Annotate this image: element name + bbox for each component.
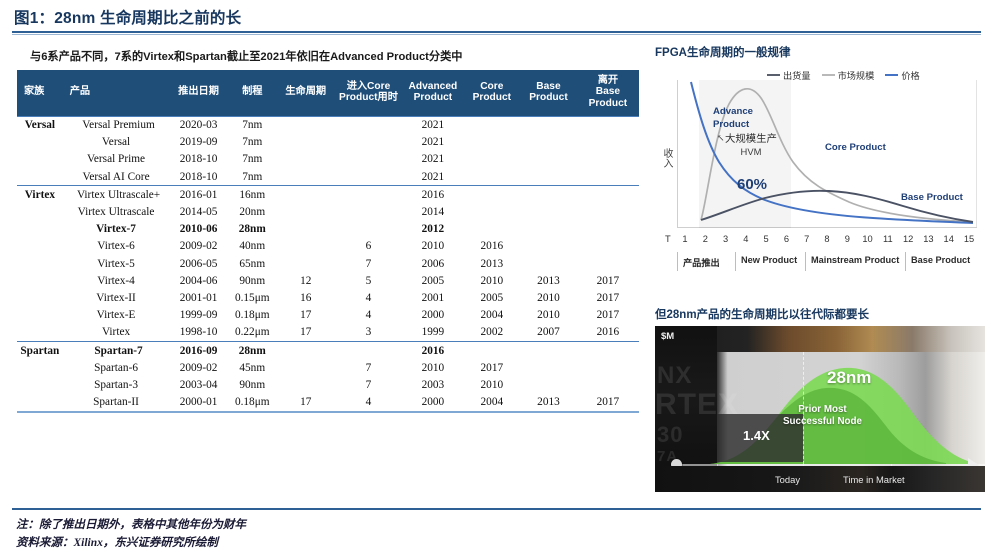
cell-leave-base: 2017 bbox=[577, 307, 639, 324]
phase-label-new: New Product bbox=[741, 255, 797, 265]
cell-leave-base: 2017 bbox=[577, 394, 639, 412]
cell-product: Spartan-II bbox=[63, 394, 170, 412]
cell-lifecycle bbox=[277, 168, 335, 186]
x-tick-3: 3 bbox=[723, 234, 728, 244]
table-row: Virtex-II2001-010.15μm164200120052010201… bbox=[17, 289, 639, 306]
cell-advanced: 2010 bbox=[402, 238, 463, 255]
x-axis-origin-label: T bbox=[665, 234, 671, 244]
cell-node: 20nm bbox=[228, 203, 277, 220]
table-caption: 与6系产品不同，7系的Virtex和Spartan截止至2021年依旧在Adva… bbox=[30, 48, 462, 64]
table-row: Spartan-II2000-010.18μm17420002004201320… bbox=[17, 394, 639, 412]
table-row: Virtex-E1999-090.18μm1742000200420102017 bbox=[17, 307, 639, 324]
phase-label-base: Base Product bbox=[911, 255, 970, 265]
table-row: Spartan-62009-0245nm720102017 bbox=[17, 359, 639, 376]
cell-leave-base: 2017 bbox=[577, 289, 639, 306]
cell-launch: 2003-04 bbox=[169, 376, 227, 393]
annotation-base-product: Base Product bbox=[901, 192, 963, 203]
cell-advanced: 2021 bbox=[402, 116, 463, 134]
cell-advanced: 2003 bbox=[402, 376, 463, 393]
cell-base bbox=[520, 376, 577, 393]
cell-core: 2017 bbox=[463, 359, 520, 376]
cell-node: 0.22μm bbox=[228, 324, 277, 342]
cell-advanced: 2014 bbox=[402, 203, 463, 220]
cell-base bbox=[520, 151, 577, 168]
x-tick-2: 2 bbox=[703, 234, 708, 244]
cell-enter-core: 4 bbox=[335, 307, 403, 324]
annotation-advance-product: Advance Product bbox=[713, 106, 753, 132]
figure-source: 资料来源：Xilinx，东兴证券研究所绘制 bbox=[16, 534, 218, 550]
title-divider bbox=[12, 31, 981, 33]
ghost-text-3: 30 bbox=[657, 422, 683, 448]
multiplier-label: 1.4X bbox=[743, 428, 770, 443]
cell-core bbox=[463, 186, 520, 204]
page-title: 图1：28nm 生命周期比之前的长 bbox=[14, 6, 241, 28]
cell-core bbox=[463, 203, 520, 220]
cell-base bbox=[520, 221, 577, 238]
cell-base: 2013 bbox=[520, 394, 577, 412]
y-axis-label: 收入 bbox=[657, 148, 671, 175]
cell-base: 2010 bbox=[520, 307, 577, 324]
cell-lifecycle bbox=[277, 238, 335, 255]
x-axis-ticks: T 123456789101112131415 bbox=[677, 234, 977, 250]
cell-core: 2010 bbox=[463, 376, 520, 393]
x-tick-15: 15 bbox=[964, 234, 974, 244]
cell-product: Versal Premium bbox=[63, 116, 170, 134]
table-row: Virtex1998-100.22μm1731999200220072016 bbox=[17, 324, 639, 342]
cell-advanced: 2021 bbox=[402, 168, 463, 186]
cell-product: Versal AI Core bbox=[63, 168, 170, 186]
lifecycle-chart-title: FPGA生命周期的一般规律 bbox=[655, 44, 790, 60]
cell-enter-core bbox=[335, 203, 403, 220]
cell-enter-core: 5 bbox=[335, 272, 403, 289]
cell-base bbox=[520, 116, 577, 134]
cell-core: 2004 bbox=[463, 394, 520, 412]
cell-core bbox=[463, 116, 520, 134]
cell-lifecycle bbox=[277, 255, 335, 272]
cell-product: Spartan-7 bbox=[63, 341, 170, 359]
cell-advanced: 2000 bbox=[402, 307, 463, 324]
annotation-hvm-en: HVM bbox=[725, 146, 777, 157]
cell-node: 7nm bbox=[228, 151, 277, 168]
x-tick-8: 8 bbox=[824, 234, 829, 244]
cell-advanced: 1999 bbox=[402, 324, 463, 342]
cell-lifecycle bbox=[277, 186, 335, 204]
cell-family bbox=[17, 307, 63, 324]
cell-leave-base bbox=[577, 221, 639, 238]
cell-core: 2013 bbox=[463, 255, 520, 272]
cell-enter-core bbox=[335, 186, 403, 204]
cell-lifecycle: 16 bbox=[277, 289, 335, 306]
cell-launch: 2018-10 bbox=[169, 151, 227, 168]
cell-family bbox=[17, 324, 63, 342]
cell-product: Virtex-6 bbox=[63, 238, 170, 255]
cell-family bbox=[17, 203, 63, 220]
phase-label-mainstream: Mainstream Product bbox=[811, 255, 899, 265]
x-tick-13: 13 bbox=[923, 234, 933, 244]
cell-lifecycle bbox=[277, 151, 335, 168]
legend-swatch-shipments bbox=[767, 74, 780, 76]
cell-core: 2002 bbox=[463, 324, 520, 342]
col-header-node: 制程 bbox=[228, 70, 277, 116]
node-label-28nm: 28nm bbox=[827, 368, 871, 388]
cell-family bbox=[17, 359, 63, 376]
cell-product: Versal Prime bbox=[63, 151, 170, 168]
photo-foot-strip bbox=[655, 466, 985, 492]
legend-swatch-price bbox=[885, 74, 898, 76]
col-header-core: CoreProduct bbox=[463, 70, 520, 116]
cell-leave-base bbox=[577, 168, 639, 186]
cell-base bbox=[520, 341, 577, 359]
cell-launch: 2006-05 bbox=[169, 255, 227, 272]
cell-launch: 1999-09 bbox=[169, 307, 227, 324]
cell-base bbox=[520, 238, 577, 255]
left-table-panel: 与6系产品不同，7系的Virtex和Spartan截止至2021年依旧在Adva… bbox=[0, 38, 648, 498]
cell-launch: 2018-10 bbox=[169, 168, 227, 186]
prior-node-label: Prior Most Successful Node bbox=[783, 404, 862, 428]
cell-advanced: 2016 bbox=[402, 186, 463, 204]
table-header-row: 家族 产品 推出日期 制程 生命周期 进入CoreProduct用时 Advan… bbox=[17, 70, 639, 116]
table-row: Versal2019-097nm2021 bbox=[17, 134, 639, 151]
phase-band: 产品推出 New Product Mainstream Product Base… bbox=[677, 252, 977, 274]
cell-product: Virtex-4 bbox=[63, 272, 170, 289]
cell-enter-core bbox=[335, 168, 403, 186]
annotation-core-product: Core Product bbox=[825, 142, 886, 153]
cell-node: 7nm bbox=[228, 168, 277, 186]
cell-leave-base bbox=[577, 359, 639, 376]
table-row: Virtex-42004-0690nm1252005201020132017 bbox=[17, 272, 639, 289]
cell-base bbox=[520, 359, 577, 376]
footer-divider bbox=[12, 508, 981, 510]
cell-advanced: 2006 bbox=[402, 255, 463, 272]
cell-family bbox=[17, 238, 63, 255]
cell-family bbox=[17, 151, 63, 168]
cell-node: 65nm bbox=[228, 255, 277, 272]
cell-enter-core: 7 bbox=[335, 376, 403, 393]
cell-advanced: 2001 bbox=[402, 289, 463, 306]
cell-advanced: 2016 bbox=[402, 341, 463, 359]
table-body: VersalVersal Premium2020-037nm2021Versal… bbox=[17, 116, 639, 412]
col-header-family: 家族 bbox=[17, 70, 63, 116]
cell-node: 7nm bbox=[228, 134, 277, 151]
cell-leave-base bbox=[577, 116, 639, 134]
cell-advanced: 2010 bbox=[402, 359, 463, 376]
photo-chart-title: 但28nm产品的生命周期比以往代际都要长 bbox=[655, 306, 869, 322]
plot-area: Advance Product ↖ 大规模生产 HVM 60% Core Pro… bbox=[677, 80, 977, 228]
col-header-enter-core: 进入CoreProduct用时 bbox=[335, 70, 403, 116]
cell-base: 2010 bbox=[520, 289, 577, 306]
cell-family bbox=[17, 221, 63, 238]
cell-core bbox=[463, 221, 520, 238]
cell-enter-core: 7 bbox=[335, 255, 403, 272]
y-axis-label-text: 收入 bbox=[657, 148, 676, 168]
today-marker-line bbox=[803, 352, 804, 464]
cell-lifecycle bbox=[277, 221, 335, 238]
product-lifecycle-table: 家族 产品 推出日期 制程 生命周期 进入CoreProduct用时 Advan… bbox=[17, 70, 639, 413]
cell-launch: 2016-01 bbox=[169, 186, 227, 204]
cell-leave-base bbox=[577, 151, 639, 168]
lifecycle-curves bbox=[677, 80, 977, 228]
x-tick-7: 7 bbox=[804, 234, 809, 244]
cell-family bbox=[17, 255, 63, 272]
table-row: Virtex-52006-0565nm720062013 bbox=[17, 255, 639, 272]
cell-product: Virtex-7 bbox=[63, 221, 170, 238]
table-row: Virtex-72010-0628nm2012 bbox=[17, 221, 639, 238]
cell-enter-core: 4 bbox=[335, 289, 403, 306]
cell-advanced: 2012 bbox=[402, 221, 463, 238]
cell-leave-base: 2016 bbox=[577, 324, 639, 342]
table-header: 家族 产品 推出日期 制程 生命周期 进入CoreProduct用时 Advan… bbox=[17, 70, 639, 116]
cell-launch: 2009-02 bbox=[169, 359, 227, 376]
cell-launch: 2020-03 bbox=[169, 116, 227, 134]
cell-product: Virtex Ultrascale bbox=[63, 203, 170, 220]
cell-leave-base bbox=[577, 203, 639, 220]
cell-node: 7nm bbox=[228, 116, 277, 134]
cell-product: Virtex-5 bbox=[63, 255, 170, 272]
cell-node: 0.18μm bbox=[228, 307, 277, 324]
col-header-leave-base: 离开Base Product bbox=[577, 70, 639, 116]
cell-launch: 2001-01 bbox=[169, 289, 227, 306]
cell-enter-core bbox=[335, 134, 403, 151]
cell-core bbox=[463, 134, 520, 151]
cell-enter-core: 4 bbox=[335, 394, 403, 412]
col-header-base: BaseProduct bbox=[520, 70, 577, 116]
cell-lifecycle bbox=[277, 376, 335, 393]
cell-lifecycle bbox=[277, 116, 335, 134]
annotation-hvm-cn: 大规模生产 bbox=[725, 134, 777, 146]
cell-enter-core bbox=[335, 151, 403, 168]
cell-product: Virtex-II bbox=[63, 289, 170, 306]
cell-node: 90nm bbox=[228, 272, 277, 289]
x-tick-9: 9 bbox=[845, 234, 850, 244]
cell-enter-core: 6 bbox=[335, 238, 403, 255]
cell-leave-base bbox=[577, 134, 639, 151]
cell-family bbox=[17, 394, 63, 412]
cell-core: 2010 bbox=[463, 272, 520, 289]
cell-launch: 2009-02 bbox=[169, 238, 227, 255]
cell-product: Versal bbox=[63, 134, 170, 151]
annotation-hvm: 大规模生产 HVM bbox=[725, 134, 777, 158]
hvm-arrow-icon: ↖ bbox=[717, 133, 725, 144]
cell-core bbox=[463, 341, 520, 359]
cell-advanced: 2005 bbox=[402, 272, 463, 289]
table-row: SpartanSpartan-72016-0928nm2016 bbox=[17, 341, 639, 359]
x-tick-5: 5 bbox=[764, 234, 769, 244]
cell-family bbox=[17, 272, 63, 289]
table-row: Spartan-32003-0490nm720032010 bbox=[17, 376, 639, 393]
cell-core: 2005 bbox=[463, 289, 520, 306]
cell-advanced: 2021 bbox=[402, 151, 463, 168]
cell-leave-base bbox=[577, 376, 639, 393]
figure-page: 图1：28nm 生命周期比之前的长 与6系产品不同，7系的Virtex和Spar… bbox=[0, 0, 993, 557]
cell-node: 0.18μm bbox=[228, 394, 277, 412]
cell-core bbox=[463, 168, 520, 186]
cell-core bbox=[463, 151, 520, 168]
annotation-percent: 60% bbox=[737, 176, 767, 193]
cell-node: 28nm bbox=[228, 221, 277, 238]
table-row: Virtex Ultrascale2014-0520nm2014 bbox=[17, 203, 639, 220]
cell-node: 45nm bbox=[228, 359, 277, 376]
cell-core: 2004 bbox=[463, 307, 520, 324]
cell-family bbox=[17, 134, 63, 151]
cell-launch: 2004-06 bbox=[169, 272, 227, 289]
cell-enter-core bbox=[335, 341, 403, 359]
col-header-lifecycle: 生命周期 bbox=[277, 70, 335, 116]
x-tick-1: 1 bbox=[682, 234, 687, 244]
photo-chart: NX RTEX 30 7A 5A $M 1.4X 28nm Prior Most… bbox=[655, 326, 985, 492]
cell-base bbox=[520, 255, 577, 272]
ghost-text-1: NX bbox=[657, 362, 692, 390]
cell-family: Virtex bbox=[17, 186, 63, 204]
cell-launch: 2019-09 bbox=[169, 134, 227, 151]
cell-lifecycle bbox=[277, 341, 335, 359]
cell-node: 16nm bbox=[228, 186, 277, 204]
cell-base: 2007 bbox=[520, 324, 577, 342]
table-row: VersalVersal Premium2020-037nm2021 bbox=[17, 116, 639, 134]
col-header-product: 产品 bbox=[63, 70, 170, 116]
table-row: Versal Prime2018-107nm2021 bbox=[17, 151, 639, 168]
table-row: VirtexVirtex Ultrascale+2016-0116nm2016 bbox=[17, 186, 639, 204]
title-divider-light bbox=[12, 34, 981, 35]
cell-core: 2016 bbox=[463, 238, 520, 255]
cell-family bbox=[17, 168, 63, 186]
phase-label-launch: 产品推出 bbox=[683, 255, 720, 269]
legend-swatch-market-size bbox=[822, 74, 835, 76]
photo-today-label: Today bbox=[775, 474, 800, 485]
cell-product: Spartan-3 bbox=[63, 376, 170, 393]
cell-base bbox=[520, 203, 577, 220]
x-tick-6: 6 bbox=[784, 234, 789, 244]
cell-leave-base bbox=[577, 238, 639, 255]
x-tick-10: 10 bbox=[862, 234, 872, 244]
cell-family bbox=[17, 376, 63, 393]
photo-unit-label: $M bbox=[661, 331, 674, 342]
cell-lifecycle: 17 bbox=[277, 324, 335, 342]
cell-lifecycle: 17 bbox=[277, 307, 335, 324]
table-row: Versal AI Core2018-107nm2021 bbox=[17, 168, 639, 186]
x-tick-4: 4 bbox=[743, 234, 748, 244]
cell-base bbox=[520, 168, 577, 186]
cell-base bbox=[520, 186, 577, 204]
cell-family: Versal bbox=[17, 116, 63, 134]
x-tick-11: 11 bbox=[883, 234, 893, 244]
cell-node: 40nm bbox=[228, 238, 277, 255]
cell-leave-base: 2017 bbox=[577, 272, 639, 289]
cell-product: Spartan-6 bbox=[63, 359, 170, 376]
cell-product: Virtex-E bbox=[63, 307, 170, 324]
cell-base bbox=[520, 134, 577, 151]
cell-enter-core: 3 bbox=[335, 324, 403, 342]
cell-launch: 2010-06 bbox=[169, 221, 227, 238]
cell-leave-base bbox=[577, 186, 639, 204]
cell-lifecycle bbox=[277, 203, 335, 220]
cell-launch: 1998-10 bbox=[169, 324, 227, 342]
photo-xaxis-label: Time in Market bbox=[843, 474, 905, 485]
cell-lifecycle: 12 bbox=[277, 272, 335, 289]
cell-node: 28nm bbox=[228, 341, 277, 359]
cell-enter-core: 7 bbox=[335, 359, 403, 376]
cell-family bbox=[17, 289, 63, 306]
cell-enter-core bbox=[335, 116, 403, 134]
cell-advanced: 2000 bbox=[402, 394, 463, 412]
cell-lifecycle: 17 bbox=[277, 394, 335, 412]
cell-product: Virtex bbox=[63, 324, 170, 342]
cell-launch: 2000-01 bbox=[169, 394, 227, 412]
col-header-launch: 推出日期 bbox=[169, 70, 227, 116]
table-row: Virtex-62009-0240nm620102016 bbox=[17, 238, 639, 255]
cell-leave-base bbox=[577, 341, 639, 359]
lifecycle-chart: 出货量 市场规模 价格 收入 bbox=[655, 62, 985, 294]
x-tick-14: 14 bbox=[944, 234, 954, 244]
cell-product: Virtex Ultrascale+ bbox=[63, 186, 170, 204]
cell-enter-core bbox=[335, 221, 403, 238]
cell-advanced: 2021 bbox=[402, 134, 463, 151]
cell-lifecycle bbox=[277, 134, 335, 151]
x-tick-12: 12 bbox=[903, 234, 913, 244]
figure-note: 注：除了推出日期外，表格中其他年份为财年 bbox=[16, 516, 246, 532]
cell-node: 0.15μm bbox=[228, 289, 277, 306]
col-header-advanced: AdvancedProduct bbox=[402, 70, 463, 116]
cell-leave-base bbox=[577, 255, 639, 272]
cell-base: 2013 bbox=[520, 272, 577, 289]
cell-launch: 2014-05 bbox=[169, 203, 227, 220]
cell-node: 90nm bbox=[228, 376, 277, 393]
cell-launch: 2016-09 bbox=[169, 341, 227, 359]
cell-lifecycle bbox=[277, 359, 335, 376]
cell-family: Spartan bbox=[17, 341, 63, 359]
